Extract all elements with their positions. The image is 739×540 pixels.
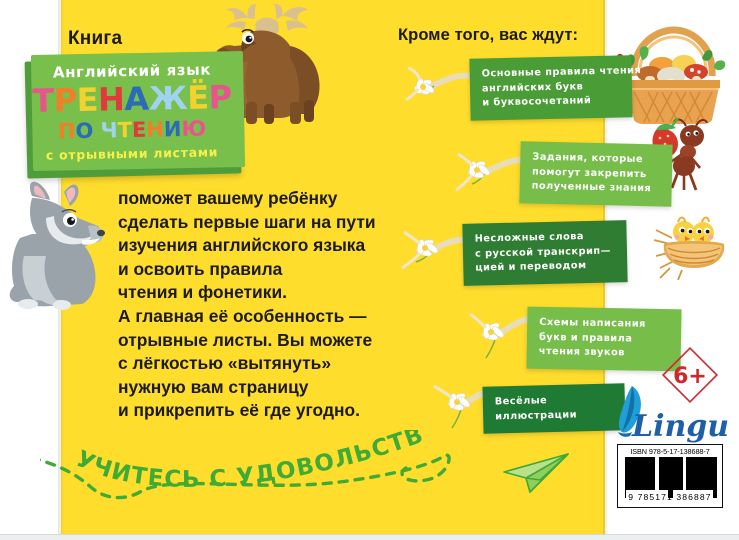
barcode-bars (623, 457, 717, 490)
title-letter: Е (76, 81, 98, 119)
slogan-group: УЧИТЕСЬ С УДОВОЛЬСТВИЕМ! (40, 430, 460, 525)
feature-schemes: Схемы написания букв и правила чтения зв… (526, 307, 681, 371)
title-letter: Т (117, 118, 132, 142)
publisher-logo: Lingua (608, 382, 728, 444)
title-main: ТРЕНАЖЁР (26, 78, 239, 120)
body-text-line: поможет вашему ребёнку (118, 187, 393, 211)
title-letter: Ч (100, 118, 117, 142)
svg-text:Lingua: Lingua (631, 409, 728, 444)
barcode: ISBN 978-5-17-138688-7 9 785171 386887 (617, 444, 723, 508)
title-letter: П (58, 119, 76, 143)
title-letter: Ё (187, 79, 209, 117)
title-card: Английский язык ТРЕНАЖЁР ПО ЧТЕНИЮ с отр… (26, 53, 244, 178)
body-text: поможет вашему ребёнкусделать первые шаг… (118, 187, 393, 423)
title-letter: Р (208, 78, 232, 116)
daisy-icon-1 (400, 62, 480, 112)
feature-reading-rules: Основные правила чтения английских букв … (469, 55, 632, 120)
body-text-line: сделать первые шаги на пути (118, 211, 393, 235)
isbn-text: ISBN 978-5-17-138688-7 (618, 447, 722, 456)
chicks-in-nest-illustration (650, 214, 734, 280)
body-text-line: с лёгкостью «вытянуть» (118, 352, 393, 376)
body-text-line: нужную вам страницу (118, 376, 393, 400)
paper-plane-illustration (500, 450, 576, 500)
feature-tasks: Задания, которые помогут закрепить получ… (519, 141, 672, 206)
bottom-bar (0, 534, 739, 540)
body-text-line: изучения английского языка (118, 234, 393, 258)
title-letter: Н (98, 80, 125, 118)
barcode-digits: 9 785171 386887 (618, 492, 722, 502)
title-letter: Н (146, 117, 164, 141)
title-letter: Т (32, 82, 54, 120)
title-letter: Ж (148, 79, 187, 118)
title-letter: Ю (181, 117, 206, 141)
body-text-line: отрывные листы. Вы можете (118, 329, 393, 353)
slogan-text: УЧИТЕСЬ С УДОВОЛЬСТВИЕМ! (40, 430, 427, 493)
page-label-kniga: Книга (68, 28, 122, 50)
title-letter: Е (132, 118, 147, 142)
feature-words: Несложные слова с русской транскрип— цие… (462, 220, 627, 285)
title-letter: А (124, 80, 149, 118)
features-header: Кроме того, вас ждут: (398, 26, 578, 45)
title-letter: О (75, 119, 93, 143)
wolf-illustration (2, 178, 118, 312)
body-text-line: А главная её особенность — (118, 305, 393, 329)
body-text-line: и прикрепить её где угодно. (118, 399, 393, 423)
title-letter: Р (53, 81, 77, 119)
title-secondary: ПО ЧТЕНИЮ (26, 116, 238, 144)
body-text-line: чтения и фонетики. (118, 281, 393, 305)
body-text-line: и освоить правила (118, 258, 393, 282)
feature-illustrations: Весёлые иллюстрации (482, 383, 625, 433)
book-back-cover: Английский язык ТРЕНАЖЁР ПО ЧТЕНИЮ с отр… (0, 0, 739, 540)
title-letter: И (164, 117, 182, 141)
